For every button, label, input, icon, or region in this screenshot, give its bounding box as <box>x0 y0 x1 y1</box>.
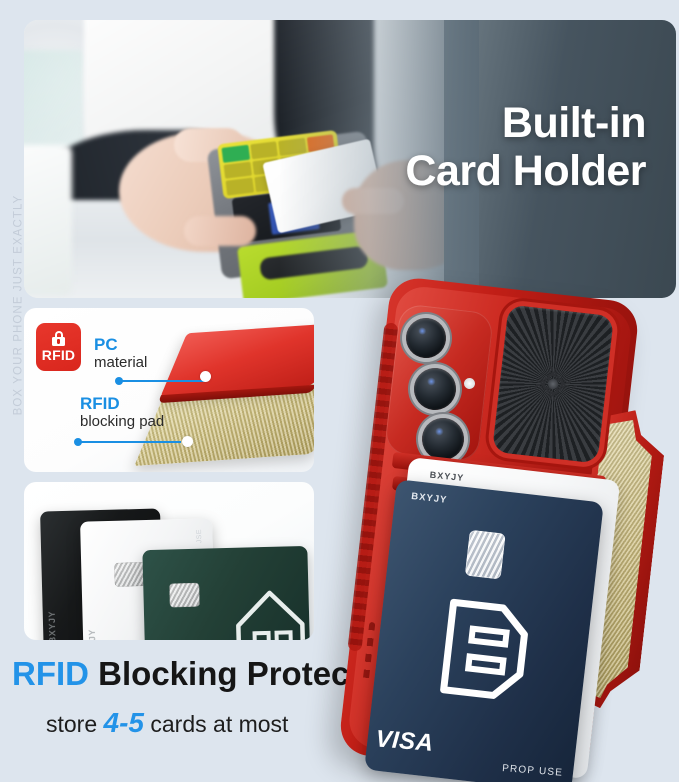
rfid-badge-label: RFID <box>42 347 75 363</box>
green-card <box>142 546 310 640</box>
lock-icon <box>51 331 66 346</box>
callout-rfid-pad: RFID blocking pad <box>80 395 164 430</box>
callout-rfid-highlight: RFID <box>80 395 164 413</box>
rfid-badge: RFID <box>36 323 81 371</box>
visa-prop-use-label: PROP USE <box>502 763 564 779</box>
hero-title: Built-in Card Holder <box>405 100 646 195</box>
card-stack-panel: BXYJY BXYJY JSE <box>24 482 314 640</box>
headline-secondary: store 4-5 cards at most <box>46 707 288 739</box>
anchor-dot-pc <box>200 371 211 382</box>
headline-store-suffix: cards at most <box>150 711 288 737</box>
white-card-brand: BXYJY <box>87 629 98 640</box>
callout-pc-material: PC material <box>94 336 147 371</box>
chip-icon <box>169 583 200 608</box>
house-icon <box>231 580 309 640</box>
headline-rfid-highlight: RFID <box>12 655 89 692</box>
hero-title-line1: Built-in <box>405 100 646 146</box>
hero-title-line2: Card Holder <box>405 148 646 194</box>
chip-icon <box>465 530 506 580</box>
leader-dot-pc <box>115 377 123 385</box>
black-card-brand: BXYJY <box>47 611 58 640</box>
anchor-dot-rfid <box>182 436 193 447</box>
headline-card-count: 4-5 <box>104 707 144 738</box>
side-caption-text: BOX YOUR PHONE JUST EXACTLY <box>12 195 24 416</box>
callout-rfid-sub: blocking pad <box>80 413 164 430</box>
product-infographic: BOX YOUR PHONE JUST EXACTLY <box>0 0 679 782</box>
pocket-brand-label: BXYJY <box>429 470 464 483</box>
white-card-edge-note: JSE <box>196 529 203 544</box>
headline-store-prefix: store <box>46 711 97 737</box>
visa-card: BXYJY VISA PROP USE <box>364 479 604 782</box>
phone-case-product: BXYJY BXYJY VISA PROP USE <box>336 282 666 782</box>
leader-line-rfid <box>78 441 181 443</box>
callout-pc-sub: material <box>94 354 147 371</box>
pc-material-slab <box>160 323 314 397</box>
metal-ring-plate <box>492 304 614 463</box>
visa-network-label: VISA <box>375 725 435 757</box>
callout-pc-highlight: PC <box>94 336 147 354</box>
material-panel: RFID PC material RFID blocking pad <box>24 308 314 472</box>
leader-line-pc <box>119 380 205 382</box>
leader-dot-rfid <box>74 438 82 446</box>
visa-card-brand: BXYJY <box>411 491 448 506</box>
clerk-finger-lower <box>184 216 256 246</box>
hero-panel: Built-in Card Holder <box>24 20 676 298</box>
letter-b-logo-icon <box>435 595 536 705</box>
glass-display-lower <box>24 145 72 295</box>
